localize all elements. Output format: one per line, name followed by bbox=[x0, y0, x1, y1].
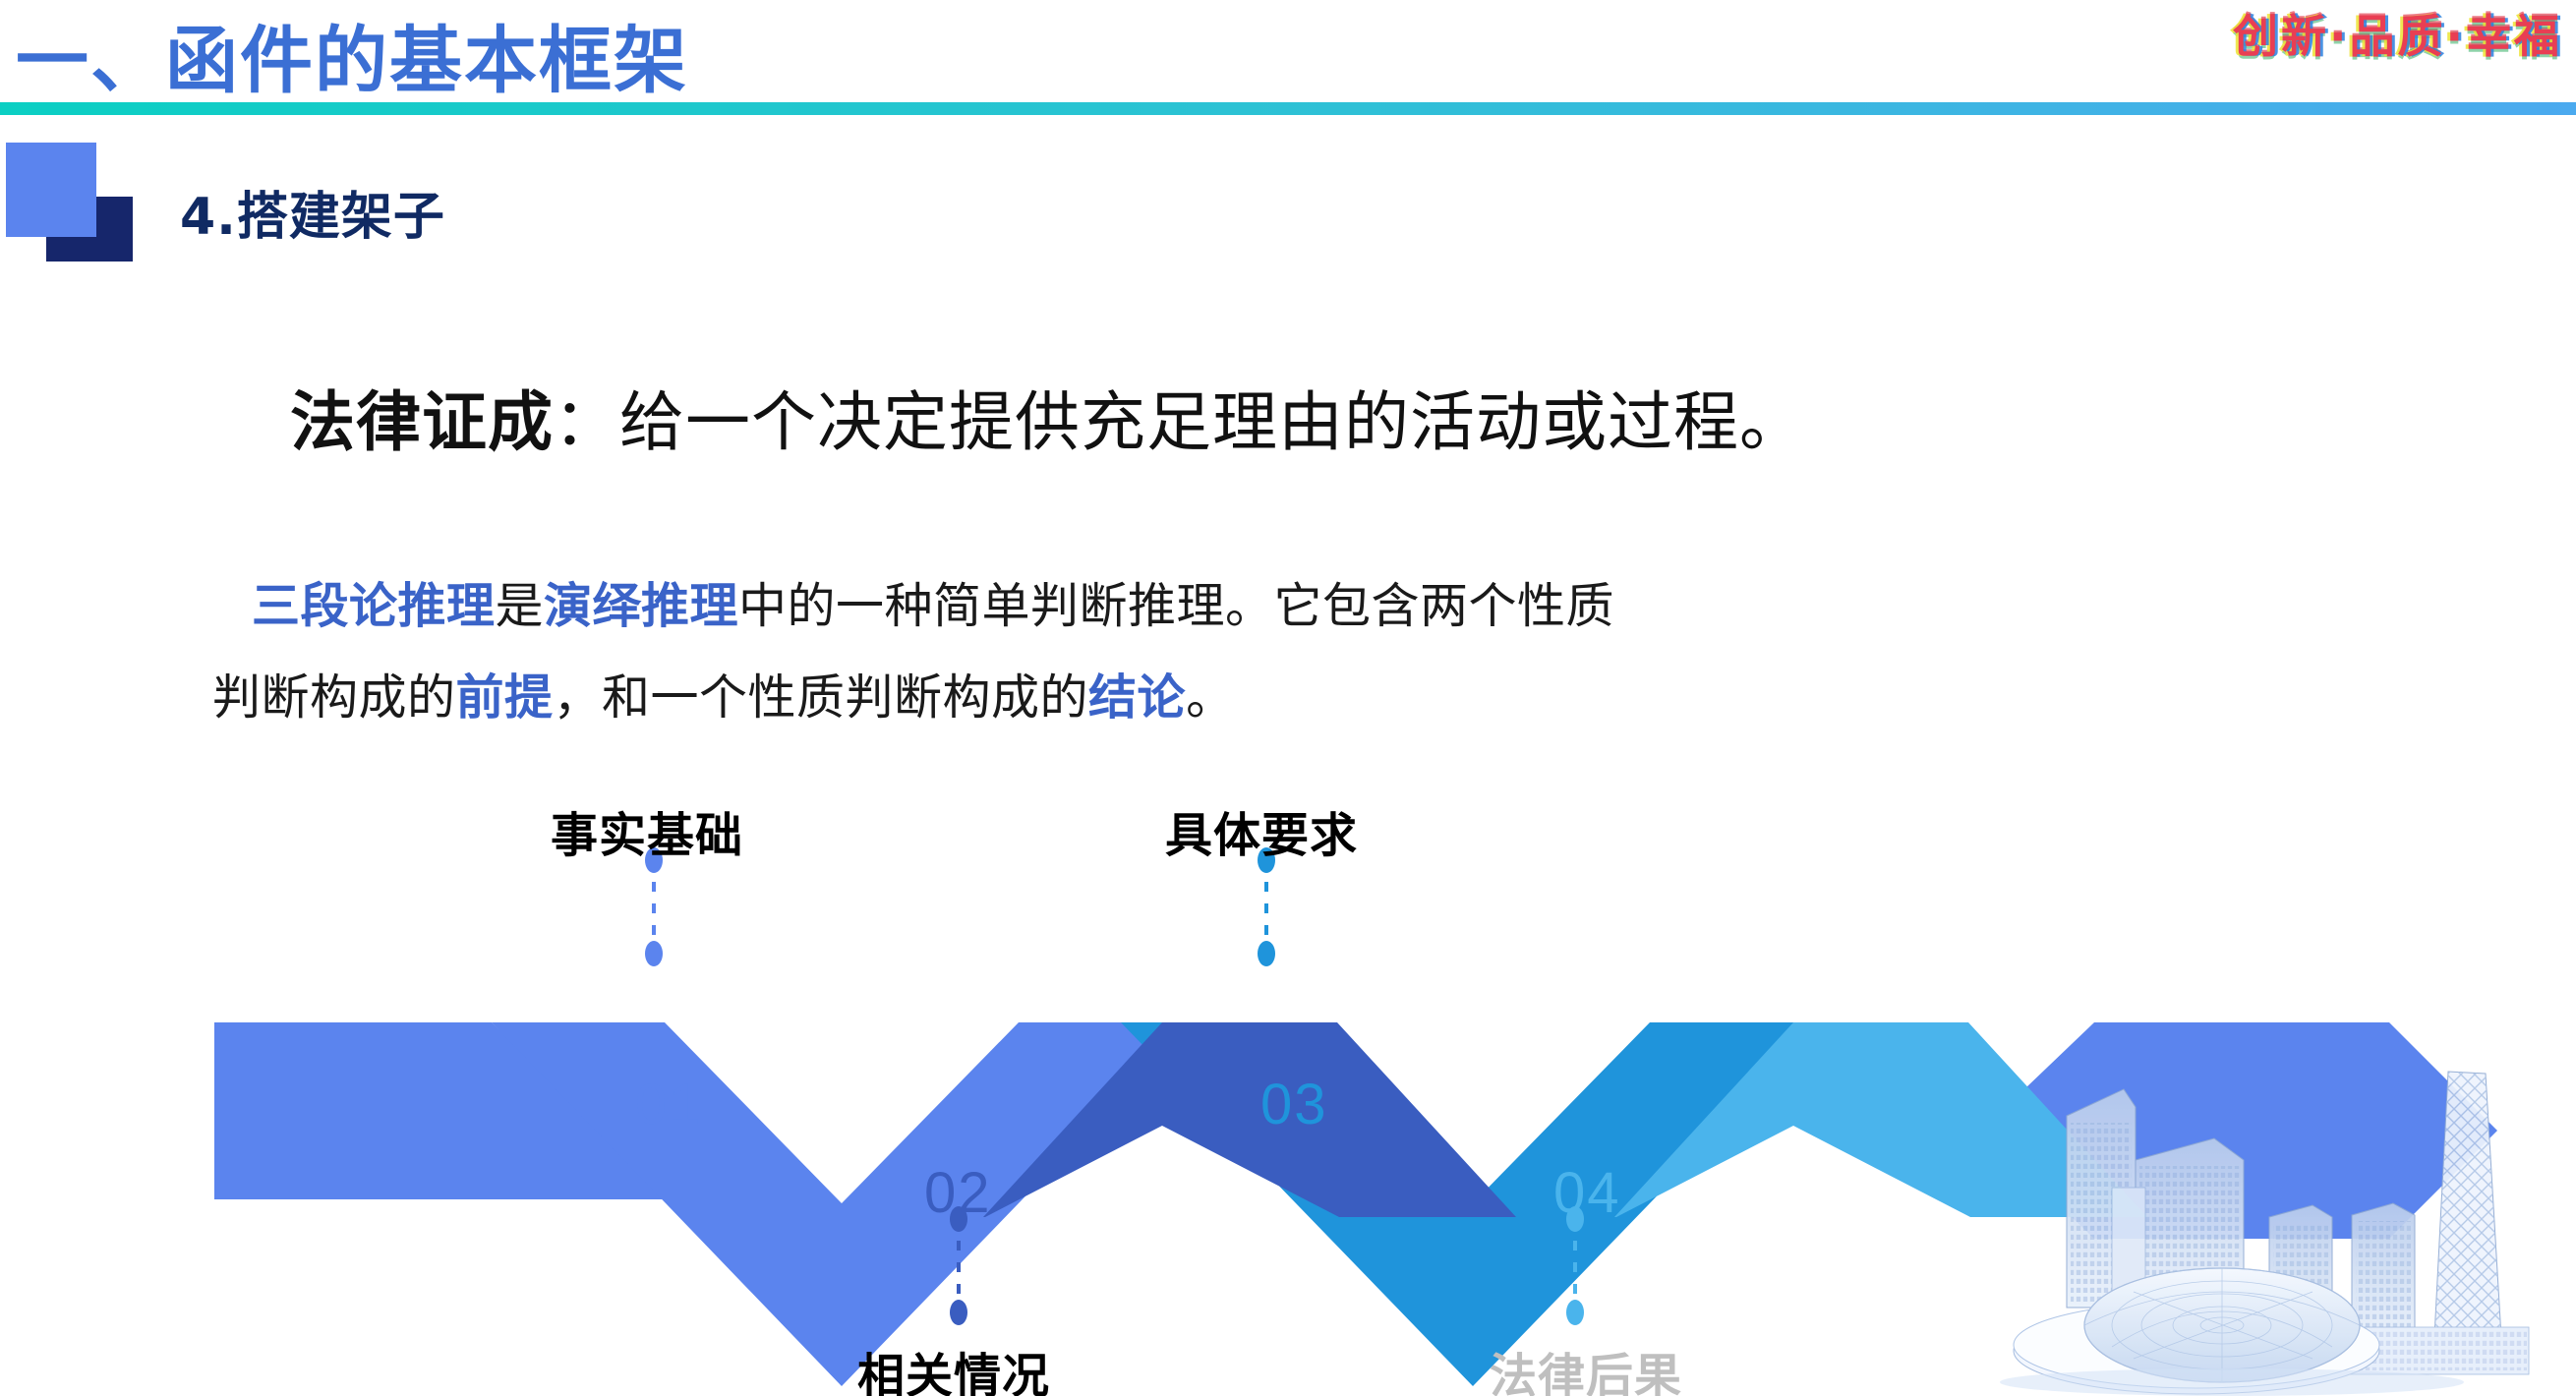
cityscape-illustration bbox=[1986, 1013, 2576, 1396]
paragraph-text-run: 中的一种简单判断推理。它包含两个性质 bbox=[738, 578, 1614, 634]
zigzag-step-02-label: 相关情况 bbox=[857, 1337, 1050, 1396]
zigzag-step-02-number: 02 bbox=[924, 1160, 992, 1226]
paragraph-text-run: ，和一个性质判断构成的 bbox=[554, 669, 1089, 726]
zigzag-step-03-number: 03 bbox=[1260, 1072, 1328, 1137]
paragraph-line-2: 判断构成的前提，和一个性质判断构成的结论。 bbox=[212, 652, 2316, 743]
paragraph-line-1: 三段论推理是演绎推理中的一种简单判断推理。它包含两个性质 bbox=[252, 578, 1614, 634]
zigzag-step-01-number: 01 bbox=[635, 1072, 703, 1137]
zigzag-step-04-number: 04 bbox=[1553, 1160, 1621, 1226]
section-marker-light-square bbox=[6, 143, 96, 237]
lead-statement: 法律证成：给一个决定提供充足理由的活动或过程。 bbox=[290, 370, 1805, 464]
section-heading: 4.搭建架子 bbox=[180, 175, 445, 249]
slide: 一、函件的基本框架 创新·品质·幸福 4.搭建架子 法律证成：给一个决定提供充足… bbox=[0, 0, 2576, 1396]
paragraph-text-run: 判断构成的 bbox=[212, 669, 456, 726]
connector-dot bbox=[1258, 941, 1275, 966]
connector-dot bbox=[645, 941, 663, 966]
paragraph-text-run: 是 bbox=[496, 578, 545, 634]
zigzag-step-01-label: 事实基础 bbox=[551, 796, 743, 865]
lead-definition: ：给一个决定提供充足理由的活动或过程。 bbox=[554, 384, 1805, 460]
slide-title: 一、函件的基本框架 bbox=[16, 2, 688, 107]
connector-dot bbox=[1566, 1300, 1584, 1325]
paragraph-text-run: 。 bbox=[1186, 669, 1235, 726]
header-divider-rule bbox=[0, 102, 2576, 115]
connector-dot bbox=[950, 1300, 967, 1325]
paragraph-highlight-term: 三段论推理 bbox=[252, 578, 496, 634]
brand-slogan-logo: 创新·品质·幸福 bbox=[2233, 14, 2562, 59]
zigzag-step-04-label: 法律后果 bbox=[1490, 1337, 1682, 1396]
body-paragraph: 三段论推理是演绎推理中的一种简单判断推理。它包含两个性质 判断构成的前提，和一个… bbox=[252, 560, 2316, 743]
lead-term: 法律证成 bbox=[290, 384, 554, 460]
paragraph-highlight-term: 演绎推理 bbox=[544, 578, 738, 634]
paragraph-highlight-term: 前提 bbox=[456, 669, 554, 726]
zigzag-step-03-label: 具体要求 bbox=[1165, 796, 1358, 865]
paragraph-highlight-term: 结论 bbox=[1088, 669, 1186, 726]
